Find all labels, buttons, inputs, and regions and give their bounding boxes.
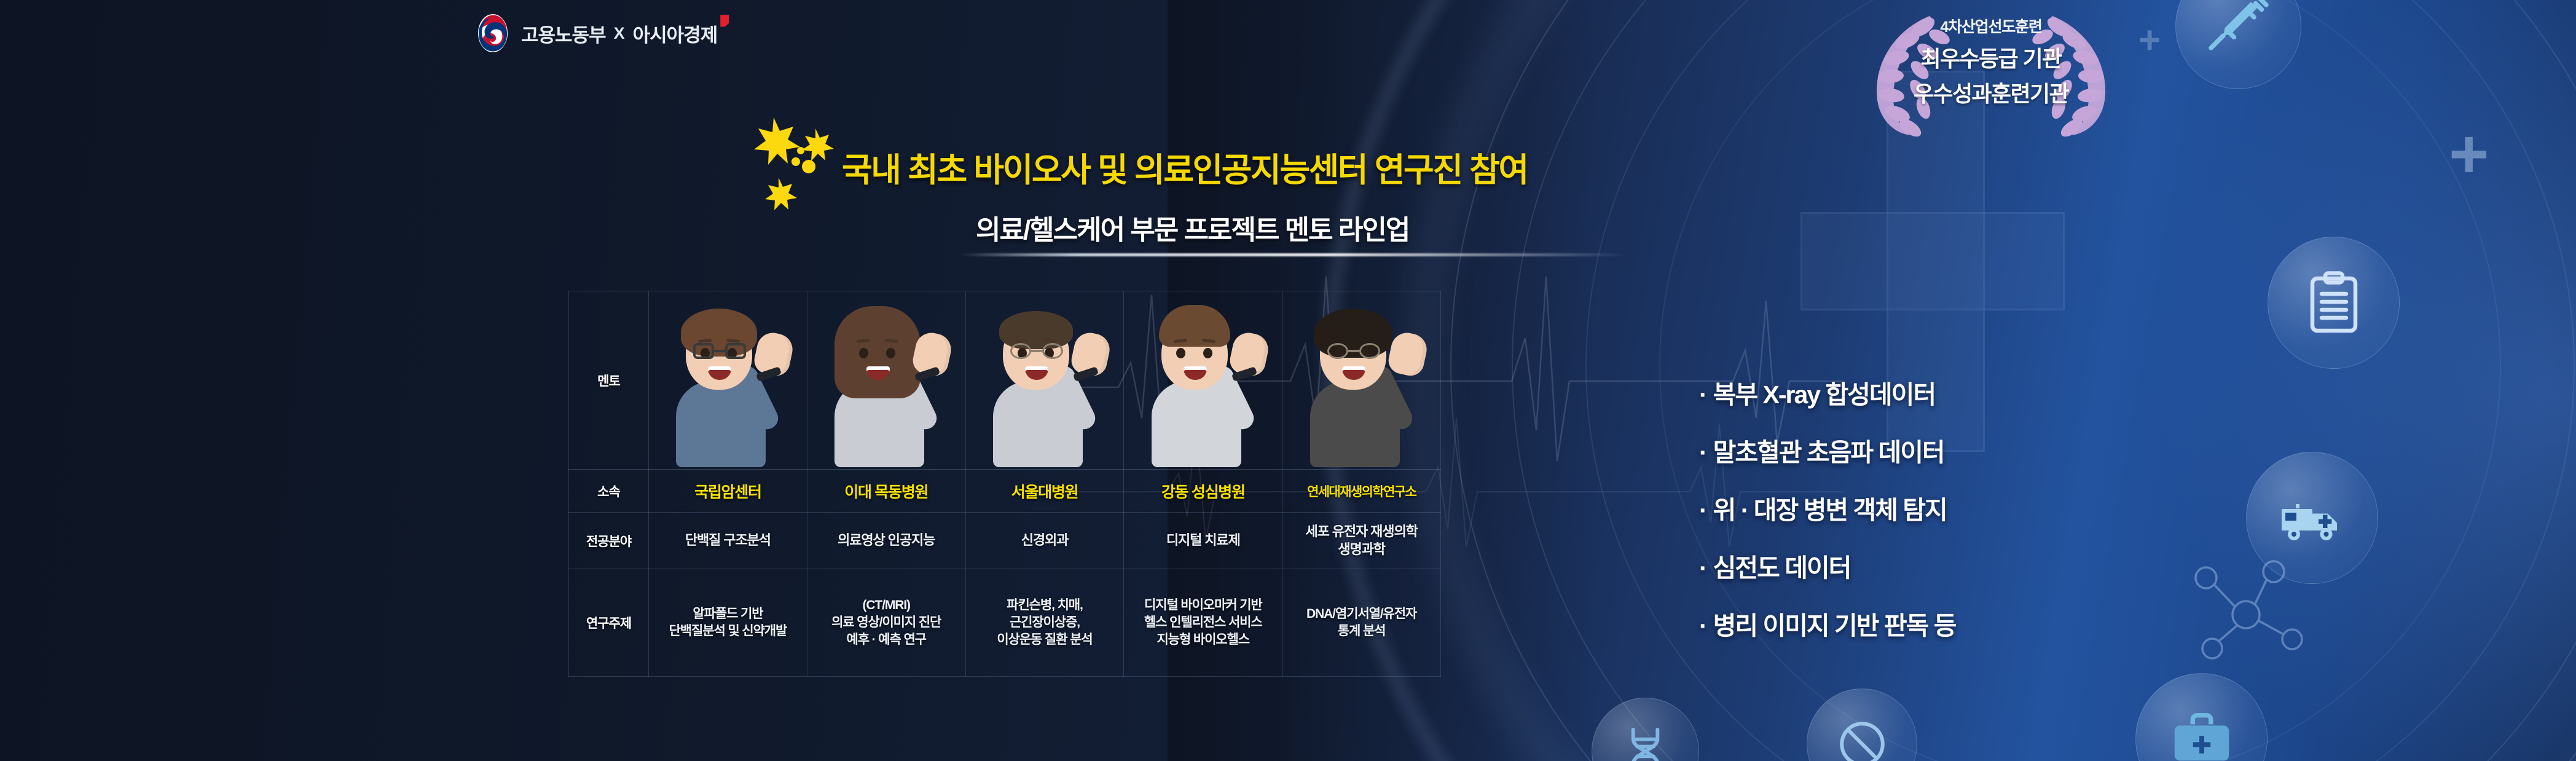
plus-icon: + bbox=[2138, 22, 2161, 60]
list-item-label: 심전도 데이터 bbox=[1713, 554, 1851, 582]
mentor-lineup-table: 멘토 bbox=[568, 291, 1441, 676]
field-5: 세포 유전자 재생의학생명과학 bbox=[1285, 523, 1438, 558]
mentor-avatar-female-long-hair bbox=[812, 295, 960, 466]
field-1: 단백질 구조분석 bbox=[651, 532, 804, 550]
table-row-mentor: 멘토 bbox=[569, 291, 1441, 470]
topic-4: 디지털 바이오마커 기반헬스 인텔리전스 서비스지능형 바이오헬스 bbox=[1126, 597, 1279, 649]
pill-icon bbox=[1833, 715, 1891, 761]
ministry-label: 고용노동부 bbox=[521, 20, 606, 47]
field-3: 신경외과 bbox=[968, 532, 1121, 550]
mentor-avatar-male-short-hair-glasses bbox=[971, 295, 1118, 466]
bullet-marker-icon: · bbox=[1699, 496, 1706, 524]
topic-1: 알파폴드 기반단백질분석 및 신약개발 bbox=[651, 605, 804, 640]
affiliation-5: 연세대재생의학연구소 bbox=[1285, 482, 1438, 500]
topic-5: DNA/염기서열/유전자통계 분석 bbox=[1285, 605, 1438, 640]
list-item: ·심전도 데이터 bbox=[1699, 547, 2191, 584]
plus-icon: + bbox=[2449, 120, 2489, 189]
mentor-cell-5 bbox=[1282, 291, 1441, 470]
partner-text: 아시아경제 bbox=[633, 25, 718, 46]
topic-3: 파킨슨병, 치매,근긴장이상증,이상운동 질환 분석 bbox=[968, 597, 1121, 649]
row-label-topic: 연구주제 bbox=[569, 569, 649, 677]
promo-banner: 고용노동부 X 아시아경제 bbox=[0, 0, 2576, 761]
mentor-avatar-male-suit-glasses bbox=[654, 295, 801, 466]
page-title: 국내 최초 바이오사 및 의료인공지능센터 연구진 참여 bbox=[842, 143, 1528, 191]
bullet-marker-icon: · bbox=[1699, 438, 1706, 467]
table-row-field: 전공분야 단백질 구조분석 의료영상 인공지능 신경외과 디지털 치료제 세포 … bbox=[569, 513, 1441, 569]
mentor-cell-2 bbox=[807, 291, 965, 470]
table-row-affiliation: 소속 국립암센터 이대 목동병원 서울대병원 강동 성심병원 연세대재생의학연구… bbox=[569, 470, 1441, 513]
list-item: ·위 · 대장 병변 객체 탐지 bbox=[1699, 489, 2191, 526]
syringe-icon bbox=[2202, 0, 2276, 63]
mentor-cell-1 bbox=[649, 291, 807, 470]
field-2: 의료영상 인공지능 bbox=[810, 532, 963, 550]
badge-line-2: 우수성과훈련기관 bbox=[1837, 76, 2145, 108]
page-subtitle: 의료/헬스케어 부문 프로젝트 멘토 라인업 bbox=[976, 208, 1409, 247]
topic-2: (CT/MRI)의료 영상/이미지 진단예후 · 예측 연구 bbox=[810, 597, 963, 649]
clipboard-bubble bbox=[2268, 237, 2400, 369]
medical-bag-icon bbox=[2166, 703, 2238, 761]
list-item: ·말초혈관 초음파 데이터 bbox=[1699, 432, 2191, 468]
partner-logo-lockup: 고용노동부 X 아시아경제 bbox=[473, 14, 717, 53]
logo-separator-x: X bbox=[614, 24, 625, 43]
bullet-marker-icon: · bbox=[1699, 612, 1706, 640]
bullet-marker-icon: · bbox=[1699, 380, 1706, 409]
data-topics-list: ·복부 X-ray 합성데이터 ·말초혈관 초음파 데이터 ·위 · 대장 병변… bbox=[1699, 374, 2191, 663]
ambulance-icon bbox=[2276, 481, 2349, 555]
dna-icon bbox=[1616, 722, 1675, 761]
bullet-marker-icon: · bbox=[1699, 554, 1706, 582]
list-item-label: 병리 이미지 기반 판독 등 bbox=[1713, 612, 1956, 640]
subtitle-underline-accent bbox=[959, 253, 1628, 256]
list-item-label: 위 · 대장 병변 객체 탐지 bbox=[1713, 496, 1947, 524]
mentor-avatar-male-hoodie bbox=[1129, 295, 1277, 466]
award-badge: 4차산업선도훈련 최우수등급 기관 우수성과훈련기관 bbox=[1837, 5, 2145, 137]
list-item: ·병리 이미지 기반 판독 등 bbox=[1699, 605, 2191, 642]
mentor-cell-4 bbox=[1124, 291, 1282, 470]
list-item: ·복부 X-ray 합성데이터 bbox=[1699, 374, 2191, 411]
mentor-cell-3 bbox=[965, 291, 1124, 470]
mentor-avatar-male-round-glasses bbox=[1288, 295, 1435, 466]
list-item-label: 복부 X-ray 합성데이터 bbox=[1713, 380, 1935, 409]
molecule-icon bbox=[2188, 553, 2317, 670]
field-4: 디지털 치료제 bbox=[1126, 532, 1279, 550]
table-row-topic: 연구주제 알파폴드 기반단백질분석 및 신약개발 (CT/MRI)의료 영상/이… bbox=[569, 569, 1441, 677]
affiliation-2: 이대 목동병원 bbox=[810, 480, 963, 502]
korean-government-taegeuk-icon bbox=[473, 14, 512, 53]
clipboard-icon bbox=[2297, 266, 2371, 340]
partner-label: 아시아경제 bbox=[633, 20, 718, 47]
row-label-mentor: 멘토 bbox=[569, 291, 649, 470]
row-label-affiliation: 소속 bbox=[569, 470, 649, 513]
affiliation-3: 서울대병원 bbox=[968, 480, 1121, 502]
affiliation-1: 국립암센터 bbox=[651, 480, 804, 502]
badge-subtitle: 4차산업선도훈련 bbox=[1837, 15, 2145, 37]
badge-line-1: 최우수등급 기관 bbox=[1837, 41, 2145, 73]
list-item-label: 말초혈관 초음파 데이터 bbox=[1713, 438, 1944, 467]
row-label-field: 전공분야 bbox=[569, 513, 649, 569]
affiliation-4: 강동 성심병원 bbox=[1126, 480, 1279, 502]
